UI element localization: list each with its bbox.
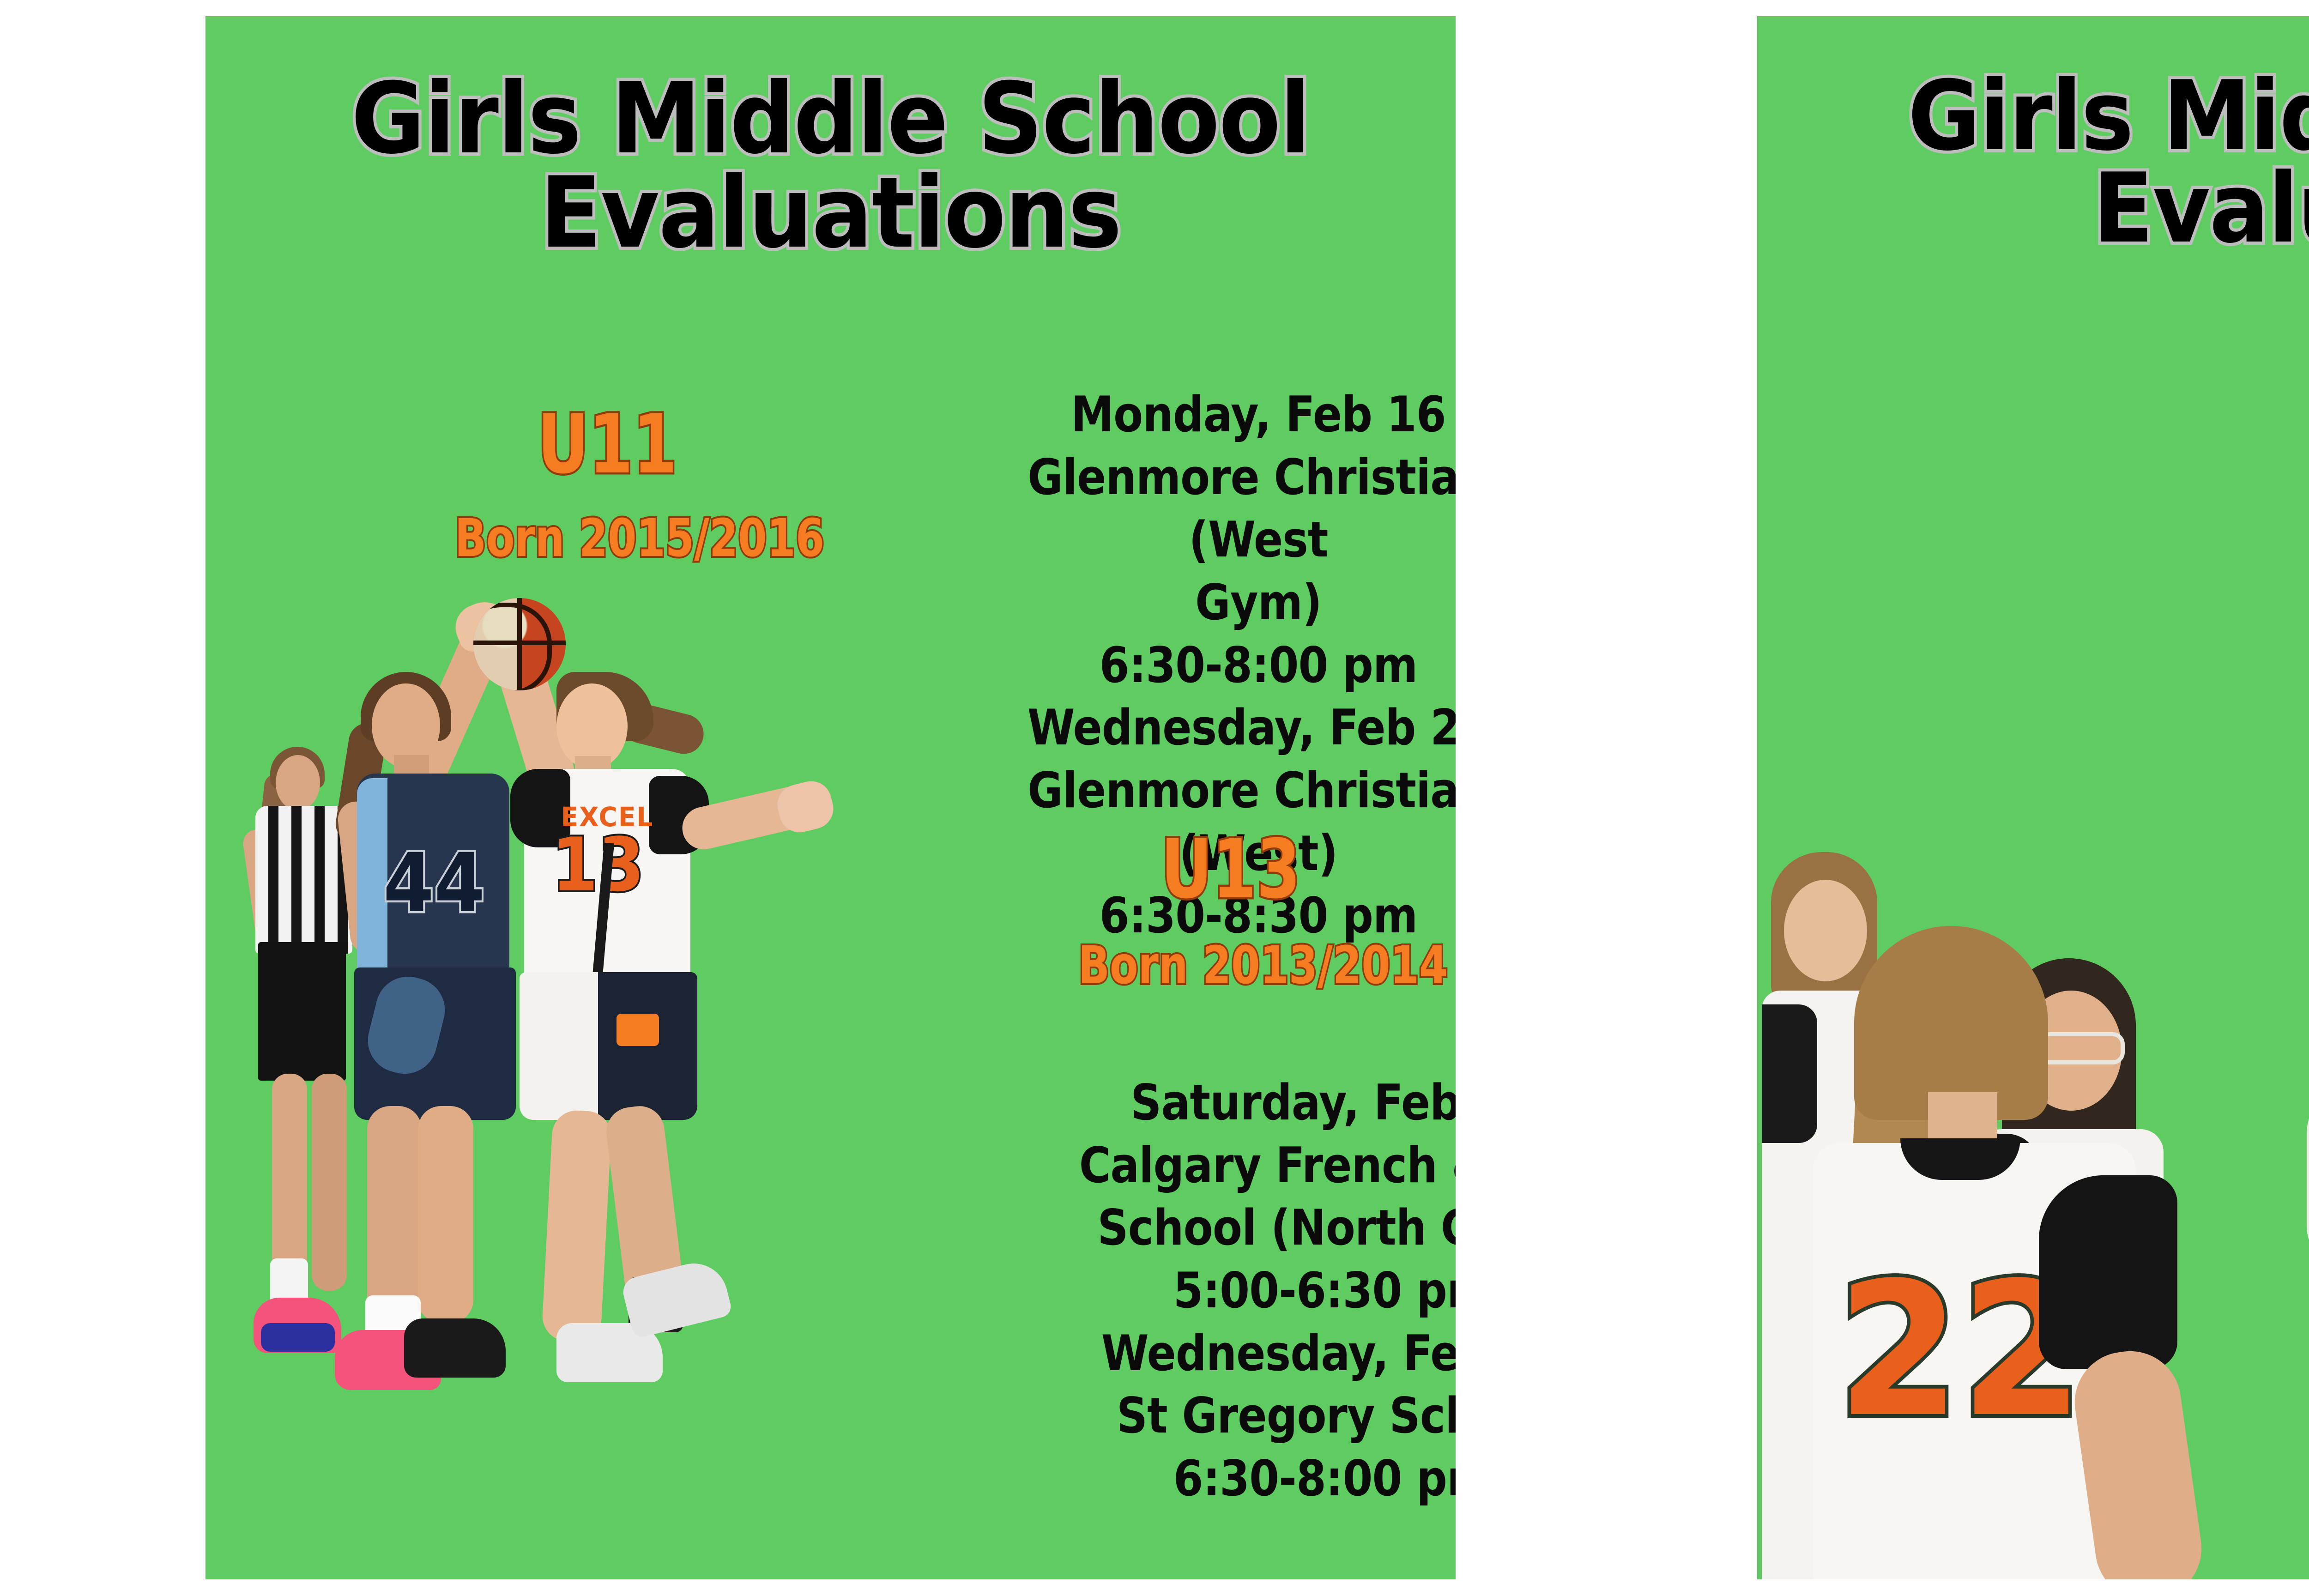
page-title-right: Girls Middle School Evaluations [1807,71,2309,255]
schedule-line: Wednesday, Feb 23 [1032,1322,1456,1385]
schedule-line: Saturday, Feb 21 [1032,1071,1456,1134]
referee-head [276,755,320,810]
poster-left-panel: 44 EXCEL 13 [206,16,1456,1579]
schedule-line: 6:30-8:00 pm [1032,1447,1456,1510]
coach-shoulder [2307,1083,2309,1268]
team-huddle-photo: 22 EXCEL [1762,852,2309,1579]
schedule-line: 5:00-6:30 pm [1032,1259,1456,1322]
referee-stripe [314,806,325,954]
title-line-2: Evaluations [1807,163,2309,255]
schedule-line: Glenmore Christian (West [958,446,1456,571]
navy-player-leg [418,1106,473,1323]
page-title-left: Girls Middle School Evaluations [255,72,1405,260]
poster-right-panel: 22 EXCEL [1757,16,2309,1579]
player-head [1784,880,1867,981]
player-sleeve [1762,1004,1817,1143]
schedule-line: Monday, Feb 16 [958,383,1456,446]
birth-year-label-u13: Born 2013/2014 [1056,940,1456,991]
age-group-label-u13: U13 [1097,829,1364,910]
poster-stage: 44 EXCEL 13 [0,0,2309,1596]
referee-stripe [291,806,302,954]
excel-player-leg [541,1109,612,1343]
schedule-line: Wednesday, Feb 23 [958,696,1456,759]
basketball-icon [473,598,566,690]
schedule-line: St Gregory School [1032,1384,1456,1447]
referee-leg [312,1074,347,1291]
referee-shorts [258,942,346,1081]
navy-player-shoe [404,1318,506,1378]
referee-shoe-accent [261,1323,335,1352]
schedule-line: Calgary French & Int. [1032,1134,1456,1197]
schedule-line: Gym) [958,571,1456,634]
referee-leg [272,1074,307,1286]
title-line-2: Evaluations [255,166,1405,260]
schedule-line: School (North Gym) [1032,1197,1456,1259]
navy-player-number: 44 [370,843,499,924]
referee-stripe [268,806,278,954]
excel-shorts-logo [617,1014,659,1046]
player-hair [1854,926,2048,1120]
schedule-block-u13: Saturday, Feb 21 Calgary French & Int. S… [1032,1071,1456,1510]
birth-year-label-u11: Born 2015/2016 [433,513,846,564]
excel-player-shorts-panel [598,972,697,1120]
age-group-label-u11: U11 [474,404,740,485]
schedule-line: 6:30-8:00 pm [958,634,1456,697]
player-sleeve [2039,1175,2177,1369]
tip-off-photo: 44 EXCEL 13 [233,584,787,1579]
excel-player-number: 13 [536,828,660,902]
